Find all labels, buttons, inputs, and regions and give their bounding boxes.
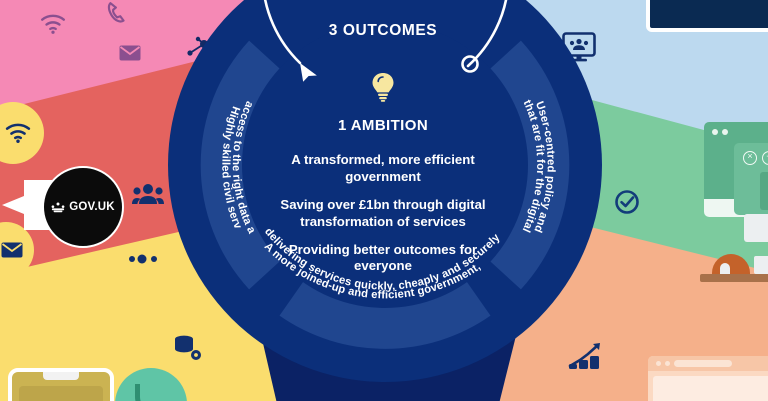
window-dot: [665, 361, 670, 366]
desk-shelf: [700, 274, 768, 282]
ambition-heading: 1 AMBITION: [208, 117, 558, 134]
lightbulb-icon: [370, 72, 396, 102]
ambition-line-1: A transformed, more efficient government: [280, 152, 486, 186]
desk-monitor: [754, 256, 768, 274]
panel-icon: [646, 0, 768, 32]
window-controls: × −: [743, 151, 768, 165]
window-dot: [656, 361, 661, 366]
center-content: 3 OUTCOMES 1 AMBITION A transformed, mor…: [208, 22, 558, 286]
tablet-screen: [19, 386, 103, 401]
outcomes-heading: 3 OUTCOMES: [208, 22, 558, 40]
envelope-icon: [119, 45, 141, 61]
desk-panel-green: [760, 172, 768, 210]
window-minimize-icon: −: [762, 151, 768, 165]
wifi-icon: [40, 14, 66, 34]
desk-panel-white: [744, 214, 768, 242]
wifi-bubble-icon: [0, 102, 44, 164]
tablet-icon: [8, 368, 114, 401]
lamp-shade: [712, 254, 750, 275]
window-titlebar: [648, 356, 768, 371]
phone-icon: [106, 1, 128, 25]
desk-lamp-icon: [700, 250, 768, 286]
tablet-notch: [43, 372, 79, 380]
crown-icon: [51, 202, 65, 213]
window-close-icon: ×: [743, 151, 757, 165]
window-dot: [722, 129, 728, 135]
ambition-line-3: Providing better outcomes for everyone: [280, 242, 486, 276]
window-dot: [712, 129, 718, 135]
browser-window-icon: [648, 356, 768, 401]
swoosh-shape: [135, 384, 162, 401]
window-address-bar: [674, 360, 732, 367]
infographic-canvas: GOV.UK: [0, 0, 768, 401]
people-group-icon: [132, 182, 164, 206]
govuk-logo-text: GOV.UK: [69, 201, 115, 213]
dots-icon: [128, 252, 162, 266]
govuk-logo: GOV.UK: [42, 166, 124, 248]
window-body: [653, 376, 768, 401]
check-circle-icon: [613, 188, 641, 216]
ambition-line-2: Saving over £1bn through digital transfo…: [280, 197, 486, 231]
window-dots: [712, 129, 728, 135]
